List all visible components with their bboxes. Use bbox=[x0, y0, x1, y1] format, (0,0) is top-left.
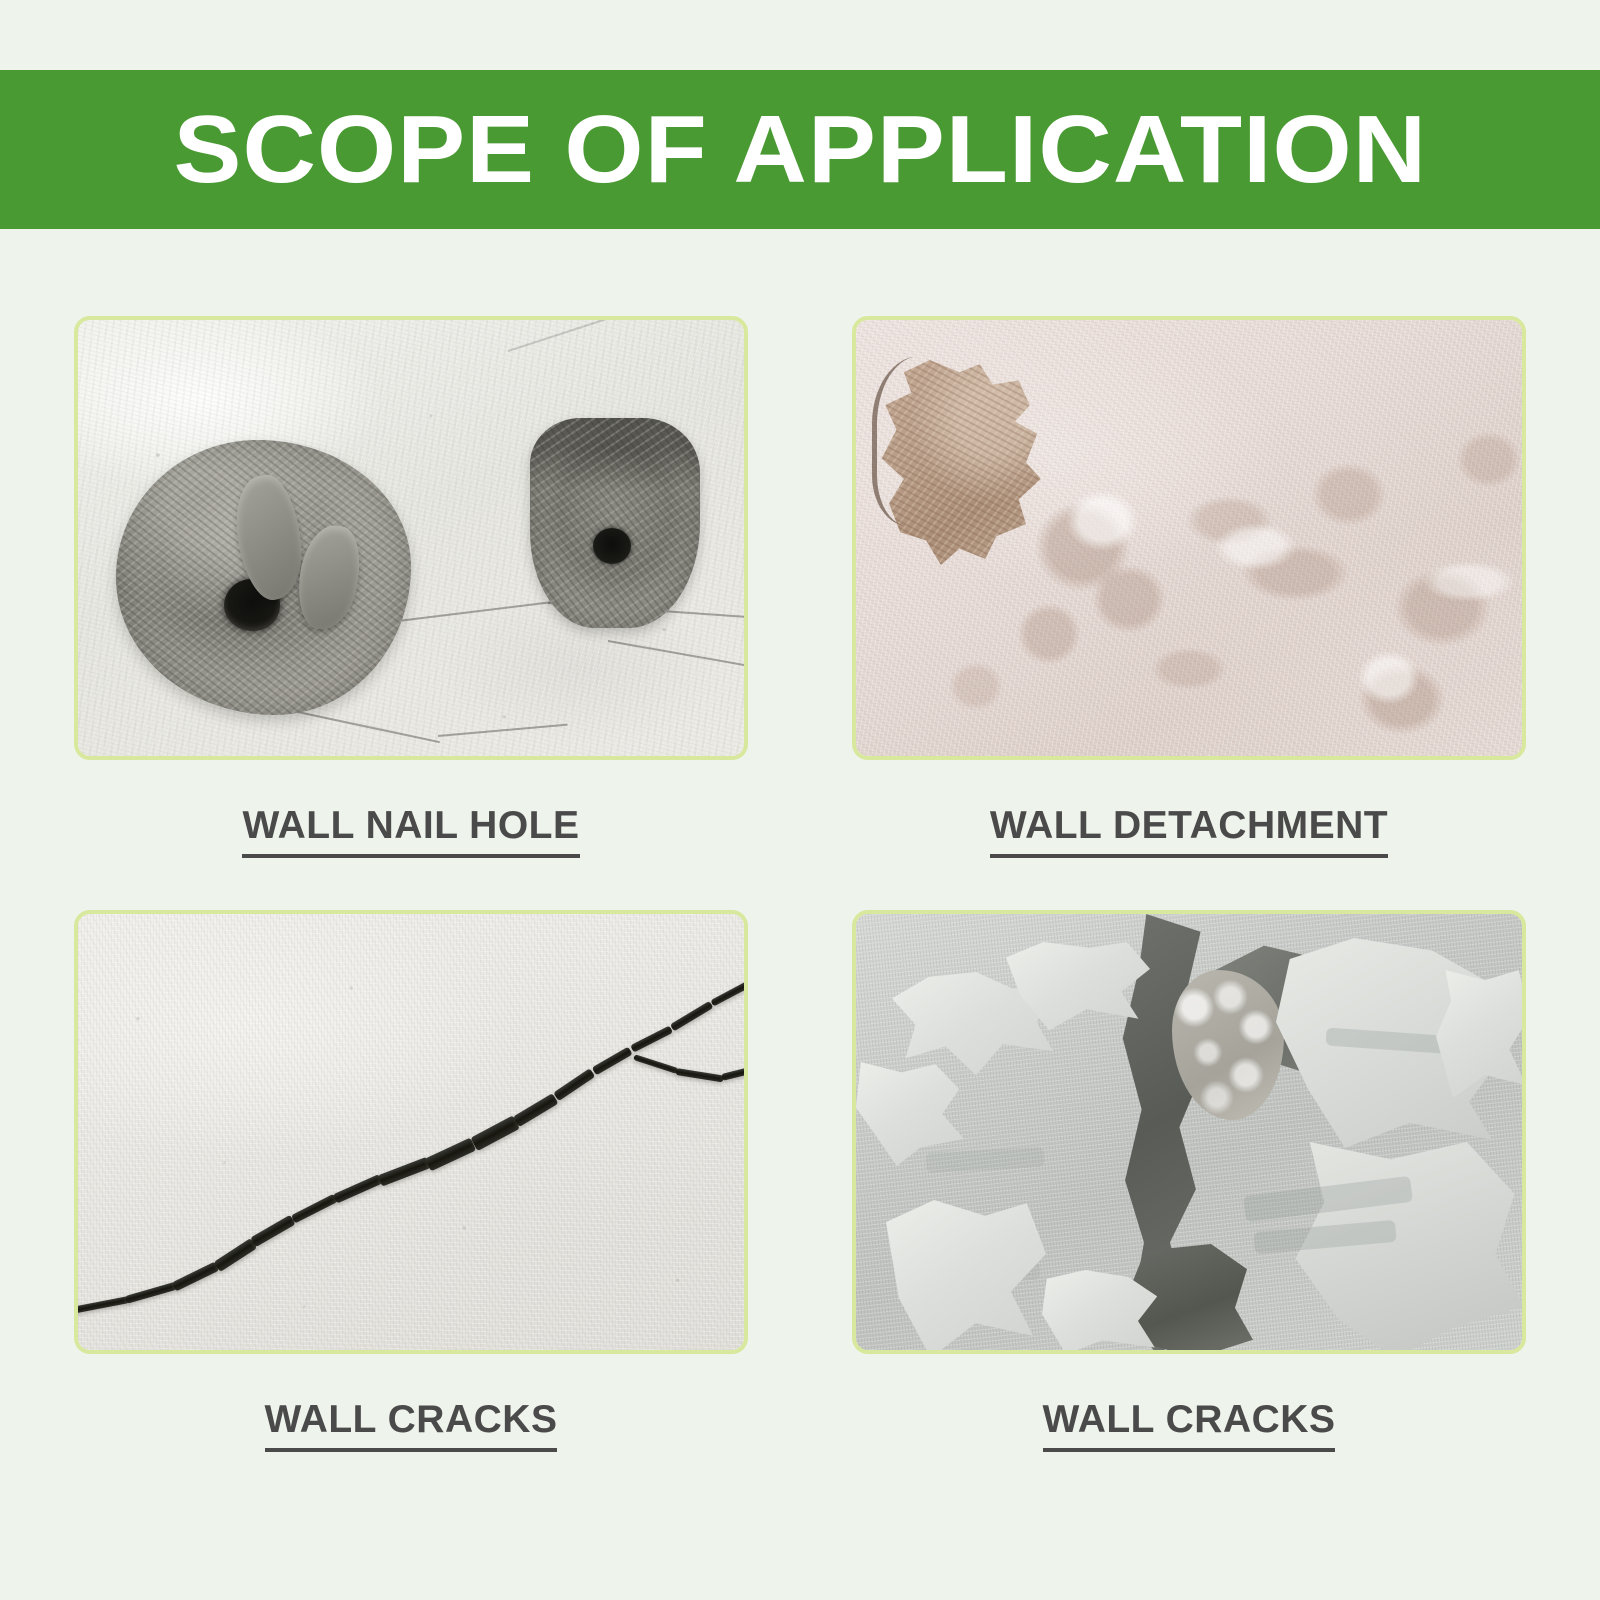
scope-item-wall-nail-hole: WALL NAIL HOLE bbox=[74, 316, 748, 882]
scope-item-wall-cracks-thin: WALL CRACKS bbox=[74, 910, 748, 1476]
photo-wall-nail-hole bbox=[78, 320, 744, 756]
application-scope-grid: WALL NAIL HOLE WALL DETACHMENT bbox=[74, 316, 1526, 1476]
image-card-wall-cracks-thin bbox=[74, 910, 748, 1354]
image-card-wall-nail-hole bbox=[74, 316, 748, 760]
caption-wall-cracks-thin: WALL CRACKS bbox=[265, 1400, 558, 1452]
caption-wall-cracks-peeling: WALL CRACKS bbox=[1043, 1400, 1336, 1452]
image-card-wall-cracks-peeling bbox=[852, 910, 1526, 1354]
photo-wall-detachment bbox=[856, 320, 1522, 756]
photo-wall-cracks-thin bbox=[78, 914, 744, 1350]
nail-hole-small bbox=[530, 418, 700, 628]
caption-wall-detachment: WALL DETACHMENT bbox=[990, 806, 1388, 858]
page-title: SCOPE OF APPLICATION bbox=[173, 102, 1427, 198]
header-banner: SCOPE OF APPLICATION bbox=[0, 70, 1600, 229]
scope-item-wall-cracks-peeling: WALL CRACKS bbox=[852, 910, 1526, 1476]
scope-item-wall-detachment: WALL DETACHMENT bbox=[852, 316, 1526, 882]
caption-wall-nail-hole: WALL NAIL HOLE bbox=[242, 806, 579, 858]
photo-wall-cracks-peeling bbox=[856, 914, 1522, 1350]
image-card-wall-detachment bbox=[852, 316, 1526, 760]
